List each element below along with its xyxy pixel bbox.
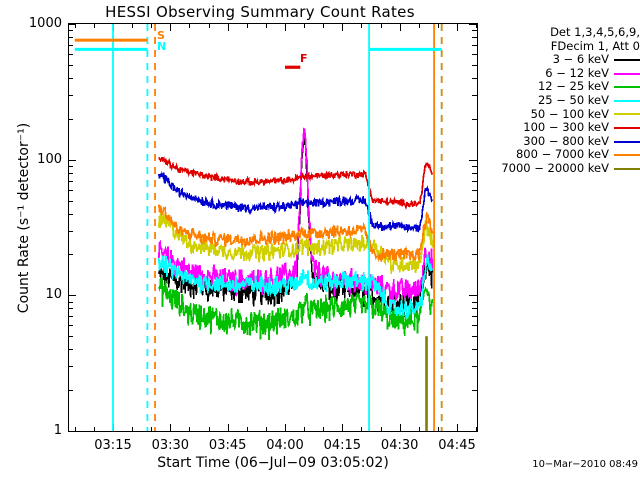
legend-entry-label: 3 − 6 keV xyxy=(553,53,609,67)
legend-entry-label: 50 − 100 keV xyxy=(531,108,609,122)
x-tick-label: 03:45 xyxy=(198,438,258,453)
y-tick-label: 10 xyxy=(2,287,62,302)
generation-timestamp: 10−Mar−2010 08:49 xyxy=(480,459,638,470)
legend-entry: 25 − 50 keV xyxy=(484,94,640,108)
legend-entry-label: 7000 − 20000 keV xyxy=(501,162,609,176)
flag-label-n: N xyxy=(157,40,166,53)
legend-entry: 7000 − 20000 keV xyxy=(484,162,640,176)
y-tick-label: 1 xyxy=(2,423,62,438)
flag-bar xyxy=(285,66,300,69)
legend-entry-swatch xyxy=(614,86,640,88)
legend-entry-swatch xyxy=(614,141,640,143)
flag-bar xyxy=(369,48,442,51)
legend-entry-swatch xyxy=(614,168,640,170)
x-tick-label: 04:45 xyxy=(427,438,487,453)
legend-entry-label: 12 − 25 keV xyxy=(538,80,609,94)
chart-page: HESSI Observing Summary Count Rates Coun… xyxy=(0,0,640,480)
legend-entry-label: 6 − 12 keV xyxy=(545,67,609,81)
x-axis-label: Start Time (06−Jul−09 03:05:02) xyxy=(68,455,478,471)
legend-entry: 300 − 800 keV xyxy=(484,135,640,149)
flag-bar xyxy=(75,48,148,51)
x-tick-label: 04:15 xyxy=(312,438,372,453)
legend-entry-swatch xyxy=(614,59,640,61)
legend-entry: 100 − 300 keV xyxy=(484,121,640,135)
legend-entry-label: 100 − 300 keV xyxy=(523,121,609,135)
series-vertical-burst xyxy=(425,336,428,431)
y-tick-label: 100 xyxy=(2,152,62,167)
legend: Det 1,3,4,5,6,9, FDecim 1, Att 0 3 − 6 k… xyxy=(484,26,640,176)
legend-entry-swatch xyxy=(614,73,640,75)
x-tick-label: 03:15 xyxy=(83,438,143,453)
legend-entry: 800 − 7000 keV xyxy=(484,148,640,162)
legend-entry: 50 − 100 keV xyxy=(484,108,640,122)
plot-area xyxy=(69,24,477,431)
legend-entry: 6 − 12 keV xyxy=(484,67,640,81)
x-tick-label: 03:30 xyxy=(140,438,200,453)
series-canvas xyxy=(69,24,477,431)
legend-header-fdecim: FDecim 1, Att 0 xyxy=(484,40,640,54)
legend-header-detectors: Det 1,3,4,5,6,9, xyxy=(484,26,640,40)
y-tick-label: 1000 xyxy=(2,16,62,31)
legend-entry-swatch xyxy=(614,127,640,129)
flag-label-f: F xyxy=(300,52,308,65)
legend-entry-swatch xyxy=(614,154,640,156)
flag-bar xyxy=(75,39,148,42)
legend-entry-swatch xyxy=(614,113,640,115)
y-axis-label: Count Rate (s⁻¹ detector⁻¹) xyxy=(16,18,32,418)
legend-entry-label: 25 − 50 keV xyxy=(538,94,609,108)
legend-entry: 3 − 6 keV xyxy=(484,53,640,67)
legend-entry-label: 800 − 7000 keV xyxy=(516,148,609,162)
legend-entry-swatch xyxy=(614,100,640,102)
x-tick-label: 04:00 xyxy=(255,438,315,453)
page-title: HESSI Observing Summary Count Rates xyxy=(0,3,520,21)
legend-entries: 3 − 6 keV6 − 12 keV12 − 25 keV25 − 50 ke… xyxy=(484,53,640,175)
legend-entry-label: 300 − 800 keV xyxy=(523,135,609,149)
legend-entry: 12 − 25 keV xyxy=(484,80,640,94)
x-tick-label: 04:30 xyxy=(370,438,430,453)
